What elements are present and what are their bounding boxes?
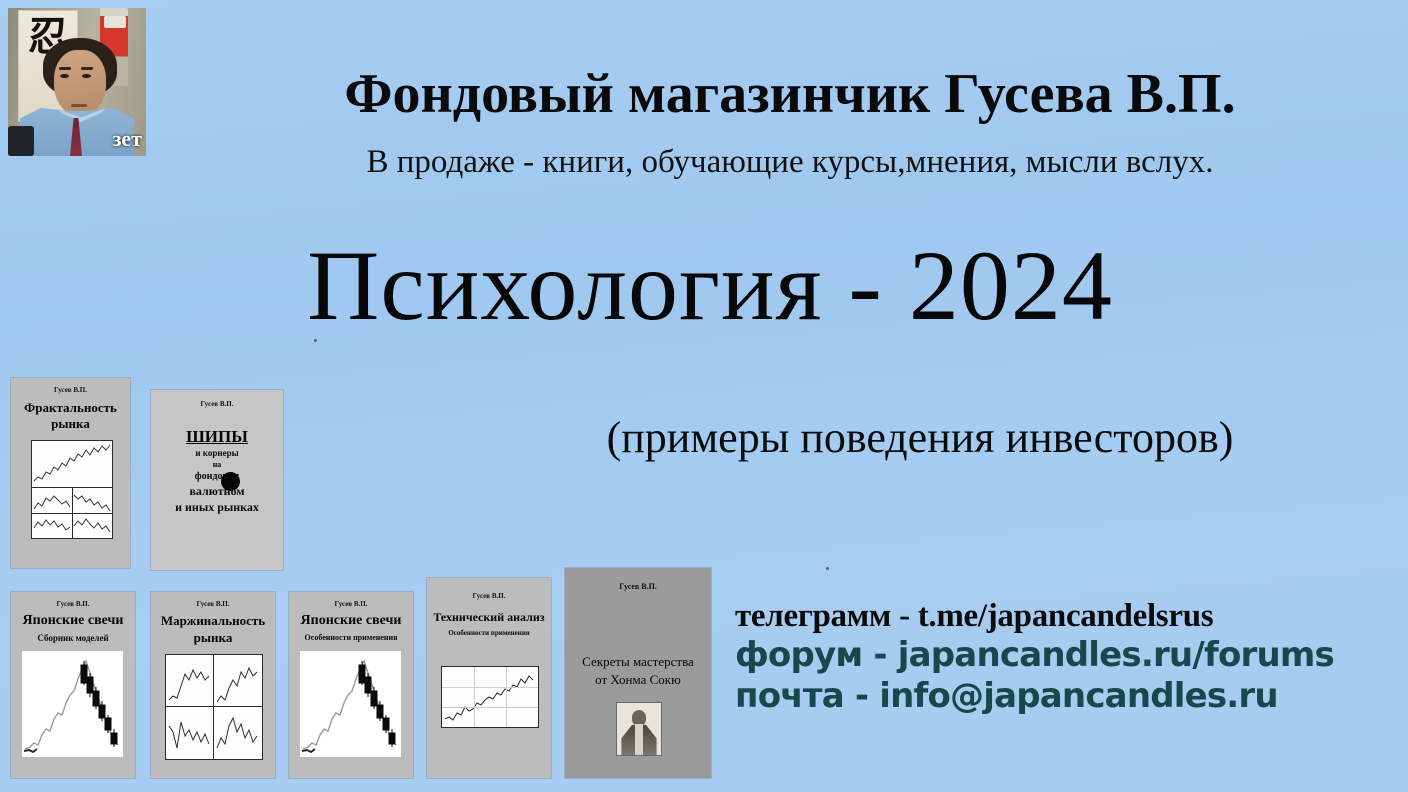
book-cover-fraktalnost[interactable]: Гусев В.П. Фрактальность рынка xyxy=(11,378,130,568)
book-author: Гусев В.П. xyxy=(151,400,283,408)
eyebrow-right xyxy=(81,67,93,70)
chart-line-q1 xyxy=(33,489,72,514)
cover-uptrend-chart xyxy=(441,666,539,728)
uptrend-svg xyxy=(442,667,538,727)
main-heading: Психология - 2024 xyxy=(150,228,1270,343)
portrait-robe xyxy=(635,724,642,755)
page-title: Фондовый магазинчик Гусева В.П. xyxy=(210,62,1370,126)
chart-line-q3 xyxy=(33,514,72,537)
contact-forum[interactable]: форум - japancandles.ru/forums xyxy=(735,635,1334,676)
book-line2: и корнеры xyxy=(151,448,283,458)
page-subtitle: В продаже - книги, обучающие курсы,мнени… xyxy=(210,144,1370,181)
ornament-top xyxy=(104,16,126,28)
book-title: Маржинальность xyxy=(151,613,275,629)
candlestick-svg xyxy=(300,651,401,757)
book-cover-tekhnicheskiy-analiz[interactable]: Гусев В.П. Технический анализ Особенност… xyxy=(427,578,551,778)
book-cover-shipy[interactable]: Гусев В.П. ШИПЫ и корнеры на фондовом ва… xyxy=(151,390,283,570)
book-title: Секреты мастерства xyxy=(565,654,711,670)
book-cover-marzhinalnost[interactable]: Гусев В.П. Маржинальность рынка xyxy=(151,592,275,778)
chart-line-top xyxy=(32,441,112,487)
chart-line-q4 xyxy=(73,514,112,537)
cursor-dot-artifact xyxy=(221,472,240,491)
cover-quad-chart xyxy=(165,654,263,760)
book-line6: и иных рынках xyxy=(151,500,283,515)
contact-block: телеграмм - t.me/japancandelsrus форум -… xyxy=(735,597,1334,717)
book-line4: фондовом xyxy=(151,471,283,482)
cover-candlestick-chart xyxy=(22,651,123,757)
avatar: зет xyxy=(8,8,146,156)
book-cover-sekrety-masterstva[interactable]: Гусев В.П. Секреты мастерства от Хонма С… xyxy=(565,568,711,778)
book-title-line2: от Хонма Сокю xyxy=(565,672,711,688)
book-line3: на xyxy=(151,460,283,469)
eyebrow-left xyxy=(59,67,71,70)
quad-chart-2 xyxy=(215,656,261,706)
book-title: Технический анализ xyxy=(427,610,551,625)
book-subtitle: Сборник моделей xyxy=(11,633,135,643)
eye-right xyxy=(82,74,91,78)
contact-telegram[interactable]: телеграмм - t.me/japancandelsrus xyxy=(735,597,1334,635)
cover-chart xyxy=(31,440,113,539)
book-subtitle: Особенности применения xyxy=(289,633,413,642)
speck-artifact xyxy=(826,567,829,570)
book-author: Гусев В.П. xyxy=(11,386,130,394)
avatar-watermark: зет xyxy=(113,126,142,152)
book-title: Японские свечи xyxy=(11,613,135,629)
book-author: Гусев В.П. xyxy=(565,582,711,591)
book-title: Фрактальность xyxy=(11,400,130,416)
book-title: ШИПЫ xyxy=(151,427,283,447)
book-author: Гусев В.П. xyxy=(427,592,551,600)
mouth xyxy=(71,104,87,107)
book-cover-yaponskie-svechi-osobennosti[interactable]: Гусев В.П. Японские свечи Особенности пр… xyxy=(289,592,413,778)
slide-canvas: зет Фондовый магазинчик Гусева В.П. В пр… xyxy=(0,0,1408,792)
speck-artifact xyxy=(314,339,317,342)
book-subtitle: Особенности применения xyxy=(427,629,551,637)
book-author: Гусев В.П. xyxy=(289,600,413,608)
book-cover-yaponskie-svechi-sbornik[interactable]: Гусев В.П. Японские свечи Сборник моделе… xyxy=(11,592,135,778)
book-author: Гусев В.П. xyxy=(151,600,275,608)
quad-chart-4 xyxy=(215,708,261,758)
chart-line-q2 xyxy=(73,489,112,514)
quad-chart-1 xyxy=(167,656,213,706)
main-parenthetical: (примеры поведения инвесторов) xyxy=(480,412,1360,463)
quad-chart-3 xyxy=(167,708,213,758)
contact-email[interactable]: почта - info@japancandles.ru xyxy=(735,676,1334,717)
dark-object xyxy=(8,126,34,156)
book-author: Гусев В.П. xyxy=(11,600,135,608)
book-title-line2: рынка xyxy=(151,630,275,646)
eye-left xyxy=(60,74,69,78)
cover-portrait xyxy=(616,702,662,756)
book-line5: валютном xyxy=(151,484,283,499)
cover-candlestick-chart xyxy=(300,651,401,757)
candlestick-svg xyxy=(22,651,123,757)
book-title-line2: рынка xyxy=(11,416,130,432)
book-title: Японские свечи xyxy=(289,613,413,629)
